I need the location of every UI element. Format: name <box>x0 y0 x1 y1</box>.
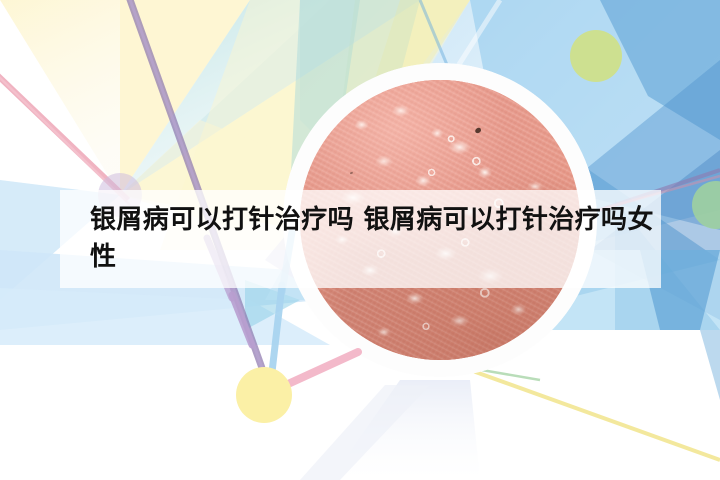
yellow-circle-bottom-icon <box>236 367 292 423</box>
page-title: 银屑病可以打针治疗吗 银屑病可以打针治疗吗女性 <box>60 202 661 276</box>
spoke-pink-icon <box>288 352 358 384</box>
title-overlay-band: 银屑病可以打针治疗吗 银屑病可以打针治疗吗女性 <box>60 190 661 288</box>
spoke-purple-icon <box>232 295 252 345</box>
spoke-blue-icon <box>272 285 282 372</box>
poster-canvas: 银屑病可以打针治疗吗 银屑病可以打针治疗吗女性 <box>0 0 720 480</box>
